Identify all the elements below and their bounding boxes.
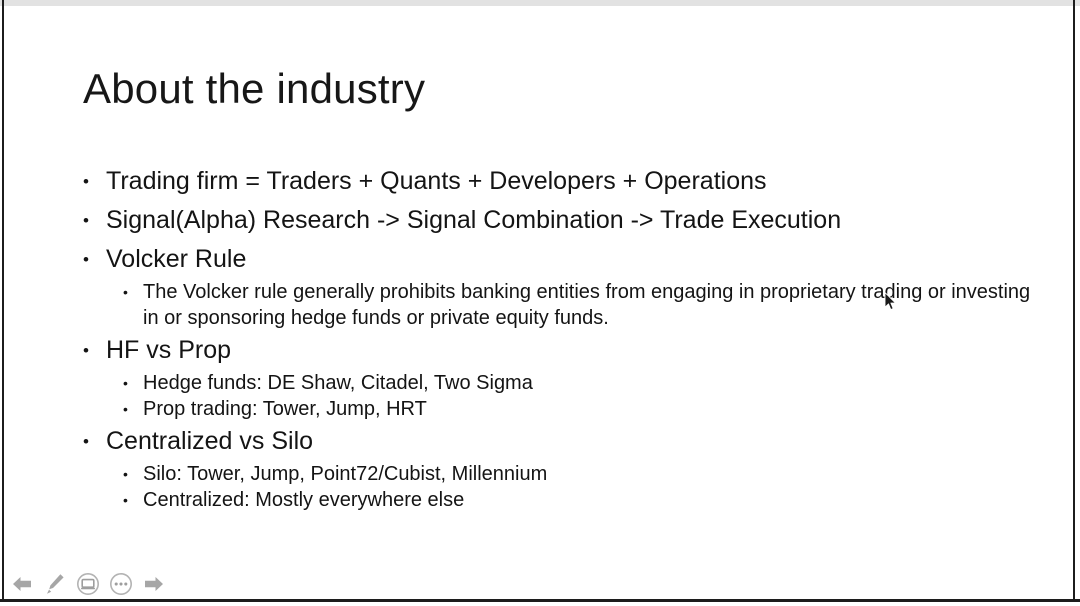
slide-title: About the industry (83, 63, 425, 115)
presentation-viewer: About the industry • Trading firm = Trad… (0, 0, 1080, 606)
bullet-item: • Volcker Rule (83, 240, 1043, 279)
bullet-glyph-icon: • (123, 370, 128, 396)
bullet-text: HF vs Prop (106, 331, 1043, 370)
bullet-glyph-icon: • (83, 162, 89, 201)
pen-icon (45, 573, 65, 595)
previous-slide-button[interactable] (8, 571, 36, 597)
bullet-item: • Signal(Alpha) Research -> Signal Combi… (83, 201, 1043, 240)
sub-bullet-item: • Prop trading: Tower, Jump, HRT (123, 396, 1043, 422)
sub-bullet-item: • Hedge funds: DE Shaw, Citadel, Two Sig… (123, 370, 1043, 396)
window-bottom-fill (0, 602, 1080, 606)
bullet-text: Volcker Rule (106, 240, 1043, 279)
bullet-list-level-2: • Silo: Tower, Jump, Point72/Cubist, Mil… (123, 461, 1043, 513)
bullet-glyph-icon: • (123, 279, 128, 305)
bullet-item: • HF vs Prop (83, 331, 1043, 370)
sub-bullet-item: • The Volcker rule generally prohibits b… (123, 279, 1043, 331)
bullet-glyph-icon: • (83, 422, 89, 461)
bullet-text: Trading firm = Traders + Quants + Develo… (106, 162, 1043, 201)
more-options-button[interactable] (107, 571, 135, 597)
sub-bullet-text: The Volcker rule generally prohibits ban… (143, 279, 1043, 331)
see-all-slides-button[interactable] (74, 571, 102, 597)
sub-bullet-item: • Centralized: Mostly everywhere else (123, 487, 1043, 513)
slideshow-toolbar (4, 570, 184, 598)
bullet-list-level-2: • The Volcker rule generally prohibits b… (123, 279, 1043, 331)
previous-slide-arrow-icon (11, 575, 33, 593)
sub-bullet-text: Prop trading: Tower, Jump, HRT (143, 396, 1043, 422)
slide-canvas: About the industry • Trading firm = Trad… (4, 6, 1073, 566)
slide-frame-right-border (1073, 0, 1075, 600)
bullet-glyph-icon: • (83, 240, 89, 279)
bullet-text: Signal(Alpha) Research -> Signal Combina… (106, 201, 1043, 240)
sub-bullet-item: • Silo: Tower, Jump, Point72/Cubist, Mil… (123, 461, 1043, 487)
sub-bullet-text: Hedge funds: DE Shaw, Citadel, Two Sigma (143, 370, 1043, 396)
sub-bullet-text: Silo: Tower, Jump, Point72/Cubist, Mille… (143, 461, 1043, 487)
slide-view-icon (76, 572, 100, 596)
bullet-glyph-icon: • (123, 396, 128, 422)
slide-body: • Trading firm = Traders + Quants + Deve… (83, 162, 1043, 513)
bullet-glyph-icon: • (123, 487, 128, 513)
pen-button[interactable] (41, 571, 69, 597)
bullet-text: Centralized vs Silo (106, 422, 1043, 461)
bullet-item: • Trading firm = Traders + Quants + Deve… (83, 162, 1043, 201)
bullet-glyph-icon: • (83, 201, 89, 240)
bullet-list-level-1: • Trading firm = Traders + Quants + Deve… (83, 162, 1043, 513)
bullet-list-level-2: • Hedge funds: DE Shaw, Citadel, Two Sig… (123, 370, 1043, 422)
bullet-glyph-icon: • (123, 461, 128, 487)
next-slide-button[interactable] (140, 571, 168, 597)
sub-bullet-text: Centralized: Mostly everywhere else (143, 487, 1043, 513)
bullet-item: • Centralized vs Silo (83, 422, 1043, 461)
more-options-icon (109, 572, 133, 596)
bullet-glyph-icon: • (83, 331, 89, 370)
next-slide-arrow-icon (143, 575, 165, 593)
